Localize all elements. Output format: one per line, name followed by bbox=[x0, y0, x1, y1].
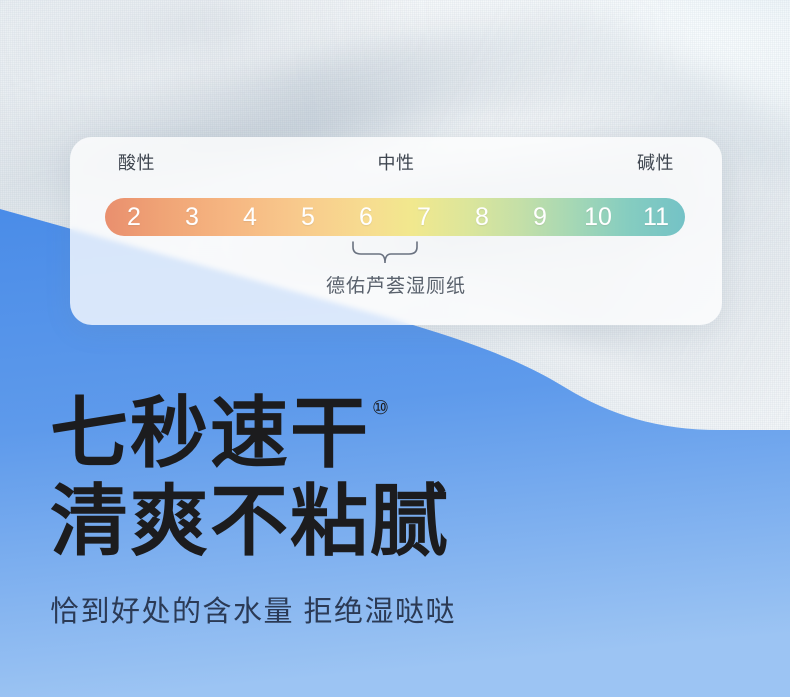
ph-value-2: 2 bbox=[105, 205, 163, 230]
ph-value-11: 11 bbox=[627, 205, 685, 230]
ph-scale-card: 酸性 中性 碱性 234567891011 德佑芦荟湿厕纸 bbox=[70, 137, 722, 325]
ph-value-3: 3 bbox=[163, 205, 221, 230]
ph-value-9: 9 bbox=[511, 205, 569, 230]
product-banner: 酸性 中性 碱性 234567891011 德佑芦荟湿厕纸 七秒速干⑩ 清爽不粘… bbox=[0, 0, 790, 697]
headline-line-2: 清爽不粘腻 bbox=[50, 484, 610, 558]
headline-line-1-text: 七秒速干 bbox=[50, 389, 370, 477]
ph-product-annotation: 德佑芦荟湿厕纸 bbox=[70, 271, 722, 298]
ph-value-4: 4 bbox=[221, 205, 279, 230]
ph-value-7: 7 bbox=[395, 205, 453, 230]
ph-legend: 酸性 中性 碱性 bbox=[70, 149, 722, 175]
ph-product-label: 德佑芦荟湿厕纸 bbox=[326, 276, 466, 297]
ph-legend-alkaline: 碱性 bbox=[637, 149, 674, 175]
ph-value-6: 6 bbox=[337, 205, 395, 230]
ph-value-10: 10 bbox=[569, 205, 627, 230]
marketing-copy: 七秒速干⑩ 清爽不粘腻 恰到好处的含水量 拒绝湿哒哒 bbox=[50, 396, 610, 630]
ph-legend-neutral: 中性 bbox=[378, 149, 415, 175]
footnote-marker-icon: ⑩ bbox=[372, 400, 389, 418]
headline-line-1: 七秒速干⑩ bbox=[50, 396, 610, 470]
ph-value-8: 8 bbox=[453, 205, 511, 230]
curly-brace-icon bbox=[351, 241, 419, 267]
ph-legend-acidic: 酸性 bbox=[118, 149, 155, 175]
ph-value-5: 5 bbox=[279, 205, 337, 230]
headline-subtitle: 恰到好处的含水量 拒绝湿哒哒 bbox=[50, 588, 610, 630]
ph-gradient-bar: 234567891011 bbox=[105, 198, 685, 236]
